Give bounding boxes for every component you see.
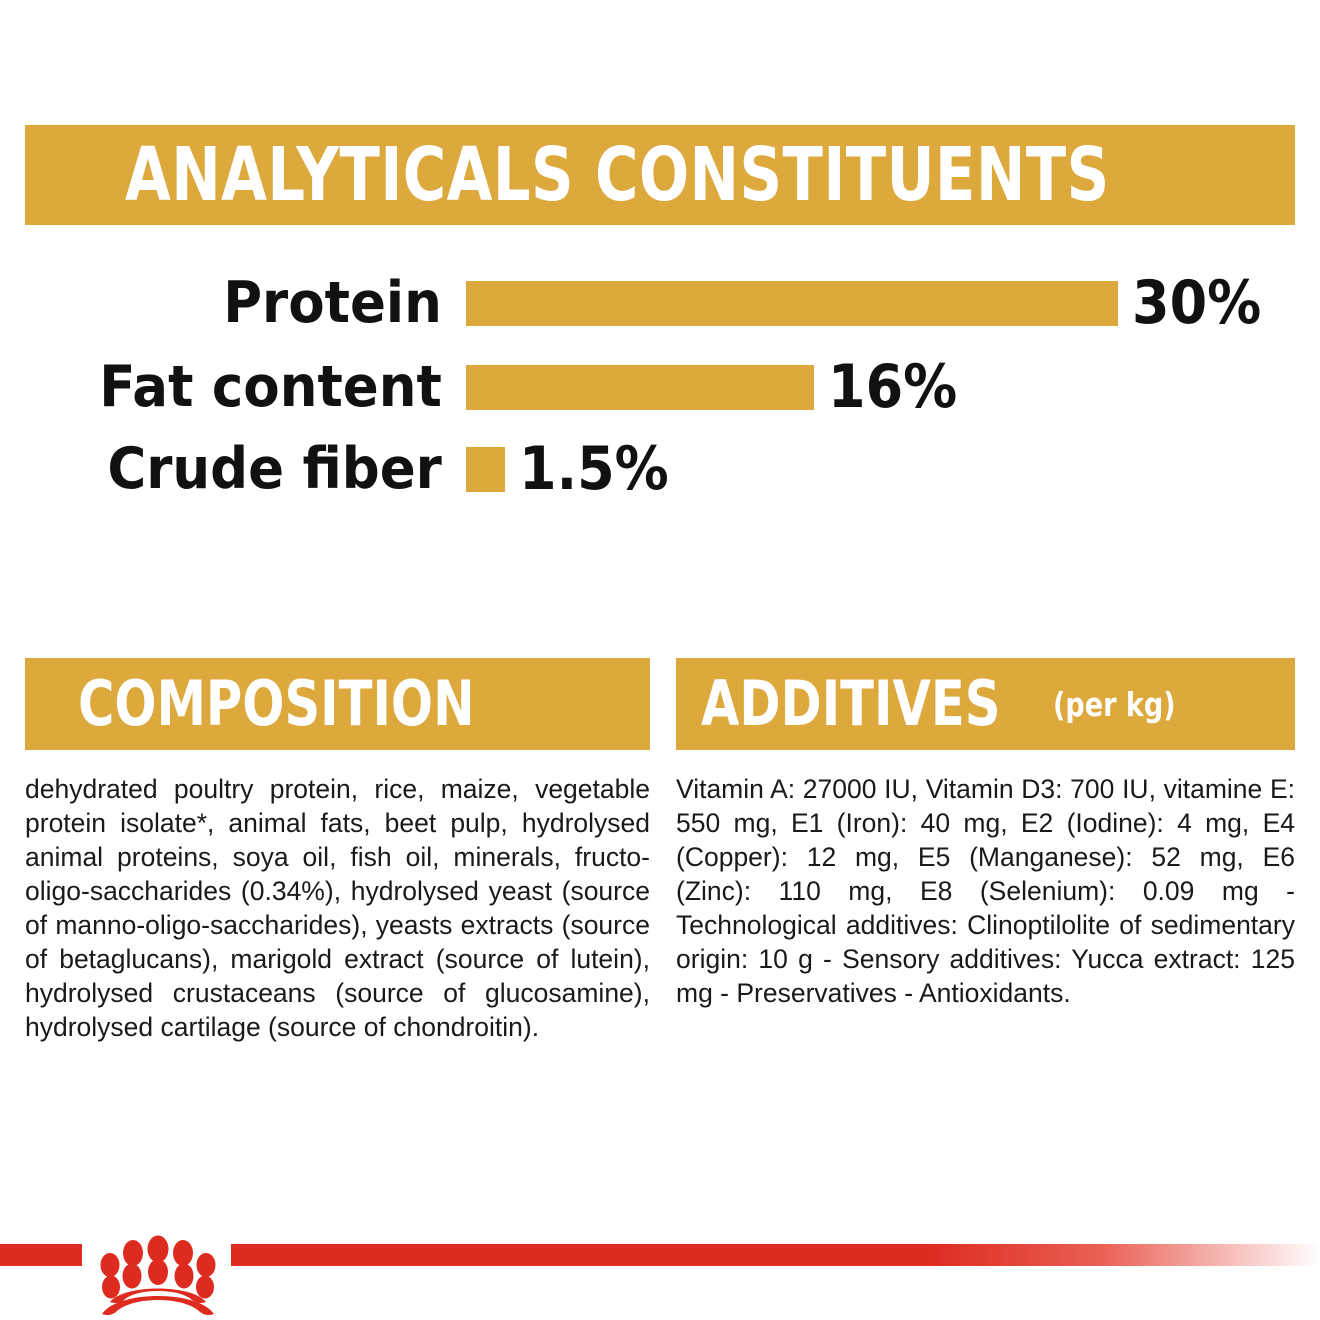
- footer-rule-left: [0, 1244, 82, 1266]
- chart-row: Fat content 16%: [0, 352, 1320, 422]
- chart-bar-crude-fiber: [466, 447, 505, 492]
- page-title: ANALYTICALS CONSTITUENTS: [125, 138, 1110, 212]
- composition-panel: COMPOSITION dehydrated poultry protein, …: [25, 658, 650, 1044]
- composition-title: COMPOSITION: [78, 673, 475, 735]
- chart-bar-group-fat-content: 16%: [466, 357, 1320, 417]
- chart-bar-protein: [466, 281, 1118, 326]
- footer-rule-right: [231, 1244, 1320, 1266]
- additives-header: ADDITIVES (per kg): [676, 658, 1295, 750]
- additives-title: ADDITIVES: [701, 673, 1000, 735]
- chart-category-label-protein: Protein: [33, 272, 466, 334]
- additives-panel: ADDITIVES (per kg) Vitamin A: 27000 IU, …: [676, 658, 1295, 1010]
- composition-header: COMPOSITION: [25, 658, 650, 750]
- royal-canin-crown-icon: [88, 1232, 228, 1318]
- composition-body-text: dehydrated poultry protein, rice, maize,…: [25, 772, 650, 1044]
- chart-category-label-fat-content: Fat content: [33, 356, 466, 418]
- chart-bar-fat-content: [466, 365, 814, 410]
- additives-unit-note: (per kg): [1053, 688, 1176, 721]
- chart-category-label-crude-fiber: Crude fiber: [33, 438, 466, 500]
- product-label-page: ANALYTICALS CONSTITUENTS Protein 30% Fat…: [0, 0, 1320, 1320]
- chart-value-fat-content: 16%: [828, 357, 957, 417]
- footer: [0, 1232, 1320, 1320]
- chart-value-protein: 30%: [1132, 273, 1261, 333]
- chart-bar-group-protein: 30%: [466, 273, 1320, 333]
- analyticals-constituents-header: ANALYTICALS CONSTITUENTS: [25, 125, 1295, 225]
- chart-value-crude-fiber: 1.5%: [519, 439, 669, 499]
- chart-row: Protein 30%: [0, 268, 1320, 338]
- chart-bar-group-crude-fiber: 1.5%: [466, 439, 1320, 499]
- analyticals-constituents-chart: Protein 30% Fat content 16% Crude fiber …: [0, 262, 1320, 512]
- detail-panels: COMPOSITION dehydrated poultry protein, …: [0, 658, 1320, 1128]
- chart-row: Crude fiber 1.5%: [0, 434, 1320, 504]
- additives-body-text: Vitamin A: 27000 IU, Vitamin D3: 700 IU,…: [676, 772, 1295, 1010]
